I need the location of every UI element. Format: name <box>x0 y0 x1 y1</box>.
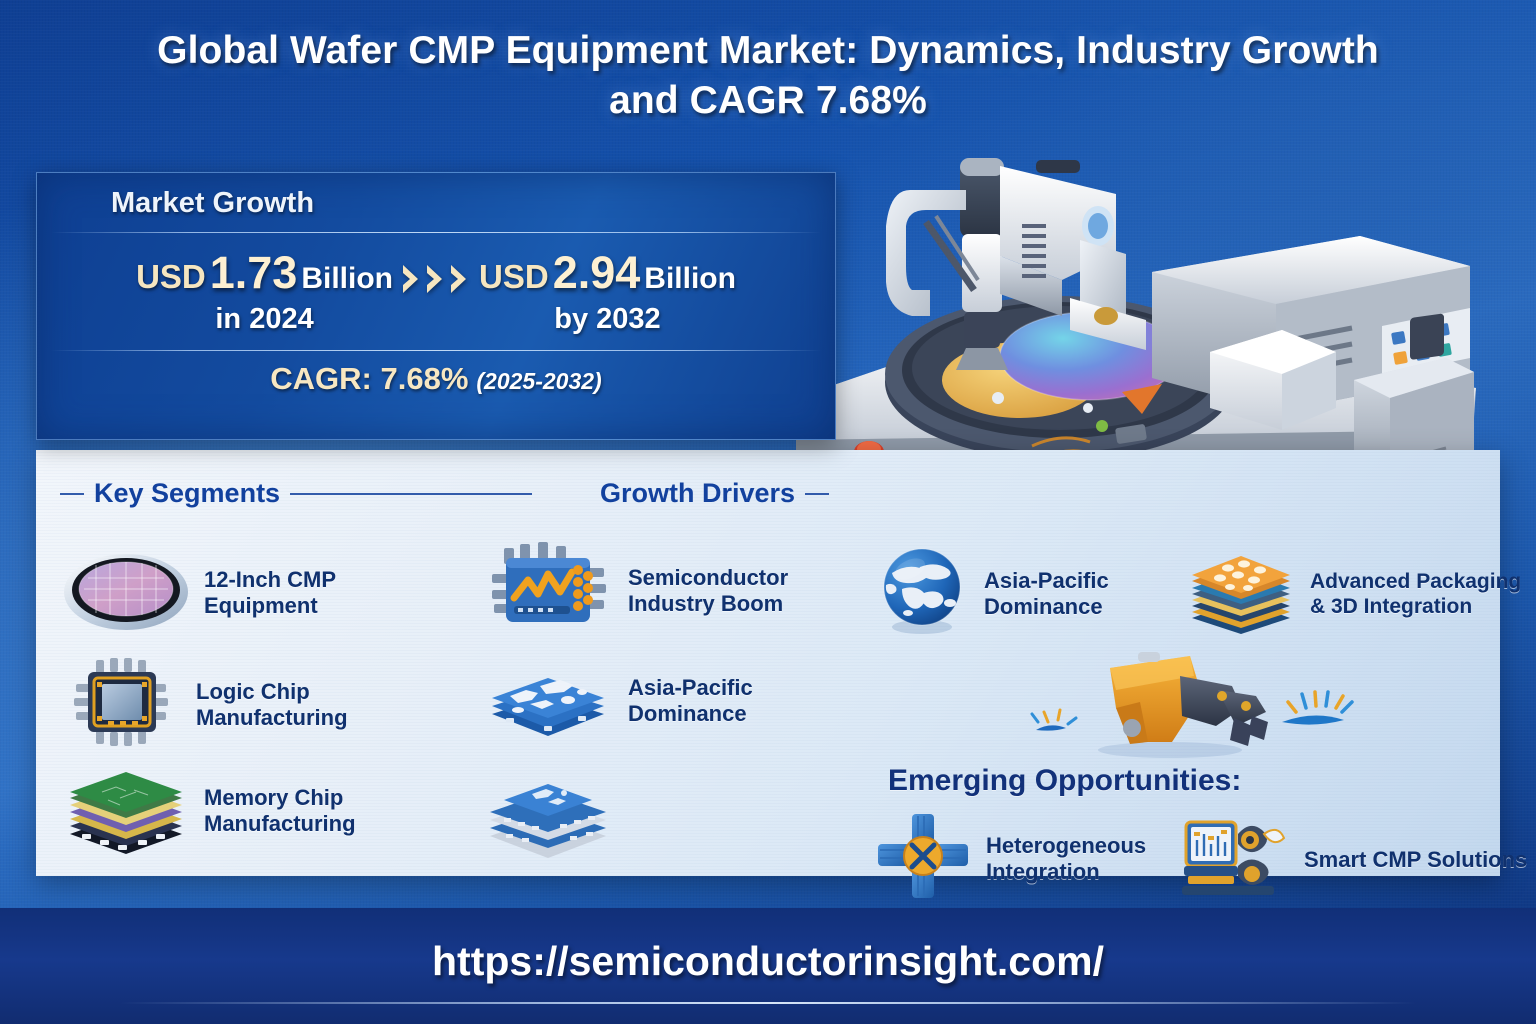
driver-label: Asia-Pacific Dominance <box>628 675 753 727</box>
emerging-label: Smart CMP Solutions <box>1304 847 1527 873</box>
figure-start: USD1.73Billion in 2024 <box>136 247 393 336</box>
globe-icon <box>874 545 970 642</box>
segment-label: Logic Chip Manufacturing <box>196 679 348 731</box>
start-year: in 2024 <box>136 303 393 336</box>
title-line-2: and CAGR 7.68% <box>60 76 1476 126</box>
figure-end: USD2.94Billion by 2032 <box>479 247 736 336</box>
smart-monitor-robot-icon <box>1180 812 1290 907</box>
highlight-label: Asia-Pacific Dominance <box>984 568 1109 620</box>
start-unit: Billion <box>301 262 393 295</box>
growth-drivers-heading-group: Growth Drivers <box>600 478 829 509</box>
world-map-chip-icon <box>482 652 614 749</box>
triple-chevron-right-icon <box>401 247 471 295</box>
highlight-label: Advanced Packaging & 3D Integration <box>1310 570 1521 620</box>
end-amount: 2.94 <box>553 247 641 298</box>
segment-item-memory-chip[interactable]: Memory Chip Manufacturing <box>62 762 356 859</box>
segment-item-12-inch-cmp[interactable]: 12-Inch CMP Equipment <box>62 548 336 637</box>
silicon-wafer-icon <box>62 548 190 637</box>
driver-label: Semiconductor Industry Boom <box>628 565 788 617</box>
microchip-icon <box>70 656 182 753</box>
end-year: by 2032 <box>479 303 736 336</box>
segment-label: Memory Chip Manufacturing <box>204 785 356 837</box>
end-unit: Billion <box>644 262 736 295</box>
driver-item-stacked-die[interactable] <box>482 760 628 865</box>
segment-label: 12-Inch CMP Equipment <box>204 567 336 619</box>
start-amount: 1.73 <box>210 247 298 298</box>
emerging-item-smart-cmp-solutions[interactable]: Smart CMP Solutions <box>1180 812 1527 907</box>
growth-drivers-heading: Growth Drivers <box>600 478 795 509</box>
highlight-item-asia-pacific[interactable]: Asia-Pacific Dominance <box>874 545 1109 642</box>
end-currency: USD <box>479 258 549 295</box>
robotic-arm-illustration <box>1020 646 1420 766</box>
memory-stack-icon <box>62 762 190 859</box>
cross-connect-icon <box>876 812 972 905</box>
growth-figures: USD1.73Billion in 2024 USD2.94Billion by… <box>37 233 835 336</box>
segment-item-logic-chip[interactable]: Logic Chip Manufacturing <box>70 656 348 753</box>
page-title: Global Wafer CMP Equipment Market: Dynam… <box>60 26 1476 126</box>
start-currency: USD <box>136 258 206 295</box>
market-growth-heading: Market Growth <box>37 173 835 220</box>
key-segments-heading-group: Key Segments <box>60 478 532 509</box>
stacked-die-icon <box>482 760 614 865</box>
emerging-item-heterogeneous-integration[interactable]: Heterogeneous Integration <box>876 812 1146 905</box>
driver-item-semiconductor-boom[interactable]: Semiconductor Industry Boom <box>490 540 788 641</box>
title-line-1: Global Wafer CMP Equipment Market: Dynam… <box>157 29 1379 72</box>
rule-right <box>805 493 829 495</box>
market-growth-panel: Market Growth USD1.73Billion in 2024 USD… <box>36 172 836 440</box>
cagr-row: CAGR: 7.68%(2025-2032) <box>37 351 835 397</box>
rule-right <box>290 493 532 495</box>
driver-item-asia-pacific[interactable]: Asia-Pacific Dominance <box>482 652 753 749</box>
footer-divider <box>120 1002 1416 1004</box>
key-segments-heading: Key Segments <box>94 478 280 509</box>
cagr-value: CAGR: 7.68% <box>270 361 468 396</box>
chip-growth-chart-icon <box>490 540 614 641</box>
emerging-label: Heterogeneous Integration <box>986 833 1146 885</box>
layer-stack-icon <box>1186 548 1296 641</box>
highlight-item-advanced-packaging[interactable]: Advanced Packaging & 3D Integration <box>1186 548 1521 641</box>
emerging-opportunities-heading: Emerging Opportunities: <box>888 764 1241 798</box>
footer-band: https://semiconductorinsight.com/ <box>0 908 1536 1024</box>
rule-left <box>60 493 84 495</box>
footer-url[interactable]: https://semiconductorinsight.com/ <box>0 908 1536 1024</box>
cagr-period: (2025-2032) <box>476 368 601 394</box>
